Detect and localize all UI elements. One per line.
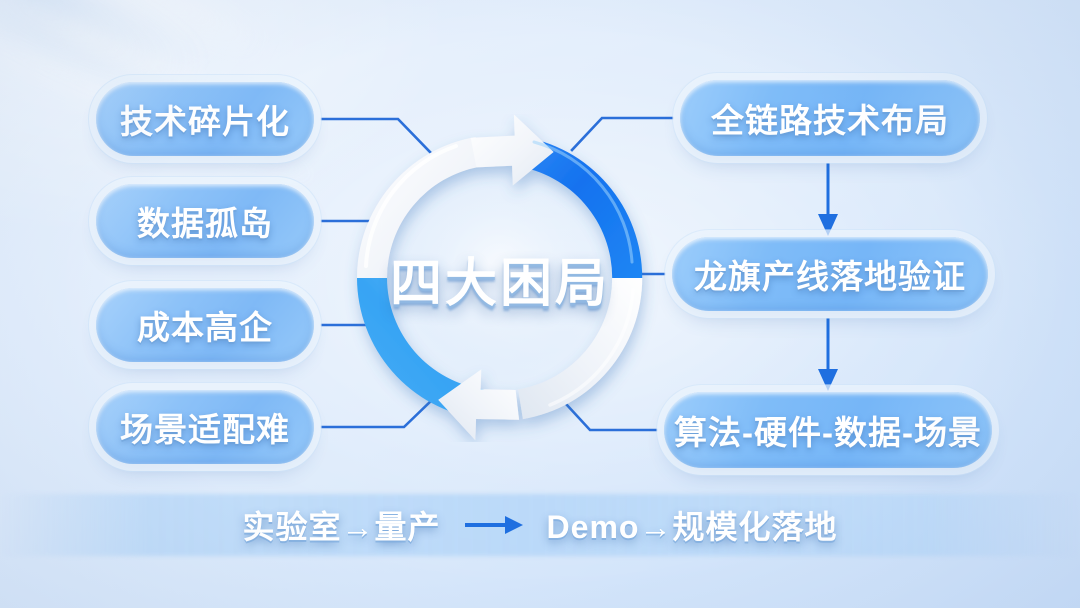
problem-pill-2[interactable]: 数据孤岛: [96, 184, 314, 258]
cycle-ring-diagram: [336, 114, 664, 442]
caption-arrow-icon: [463, 512, 525, 538]
right-arrow-icon: [463, 512, 525, 538]
infographic-canvas: 技术碎片化 数据孤岛 成本高企 场景适配难 全链路技术布局 龙旗产线落地验证 算…: [0, 0, 1080, 608]
caption-left-text: 实验室→量产: [243, 502, 441, 548]
problem-pill-1[interactable]: 技术碎片化: [96, 82, 314, 156]
cycle-ring-svg: [336, 114, 664, 442]
problem-pill-3-label: 成本高企: [137, 301, 273, 349]
solution-box-1[interactable]: 全链路技术布局: [680, 80, 980, 156]
caption-right-text: Demo→规模化落地: [547, 502, 838, 548]
problem-pill-2-label: 数据孤岛: [137, 197, 273, 245]
problem-pill-1-label: 技术碎片化: [120, 95, 290, 143]
bottom-caption: 实验室→量产 Demo→规模化落地: [0, 500, 1080, 550]
solution-box-2[interactable]: 龙旗产线落地验证: [672, 237, 988, 311]
problem-pill-4-label: 场景适配难: [120, 403, 290, 451]
flow-arrow-2-head: [818, 369, 838, 391]
flow-arrow-1-head: [818, 214, 838, 236]
problem-pill-4[interactable]: 场景适配难: [96, 390, 314, 464]
solution-box-3-label: 算法-硬件-数据-场景: [674, 406, 982, 454]
problem-pill-3[interactable]: 成本高企: [96, 288, 314, 362]
solution-box-3[interactable]: 算法-硬件-数据-场景: [664, 392, 992, 468]
light-streak-1: [0, 0, 277, 66]
solution-box-1-label: 全链路技术布局: [711, 94, 949, 142]
solution-box-2-label: 龙旗产线落地验证: [694, 250, 966, 298]
